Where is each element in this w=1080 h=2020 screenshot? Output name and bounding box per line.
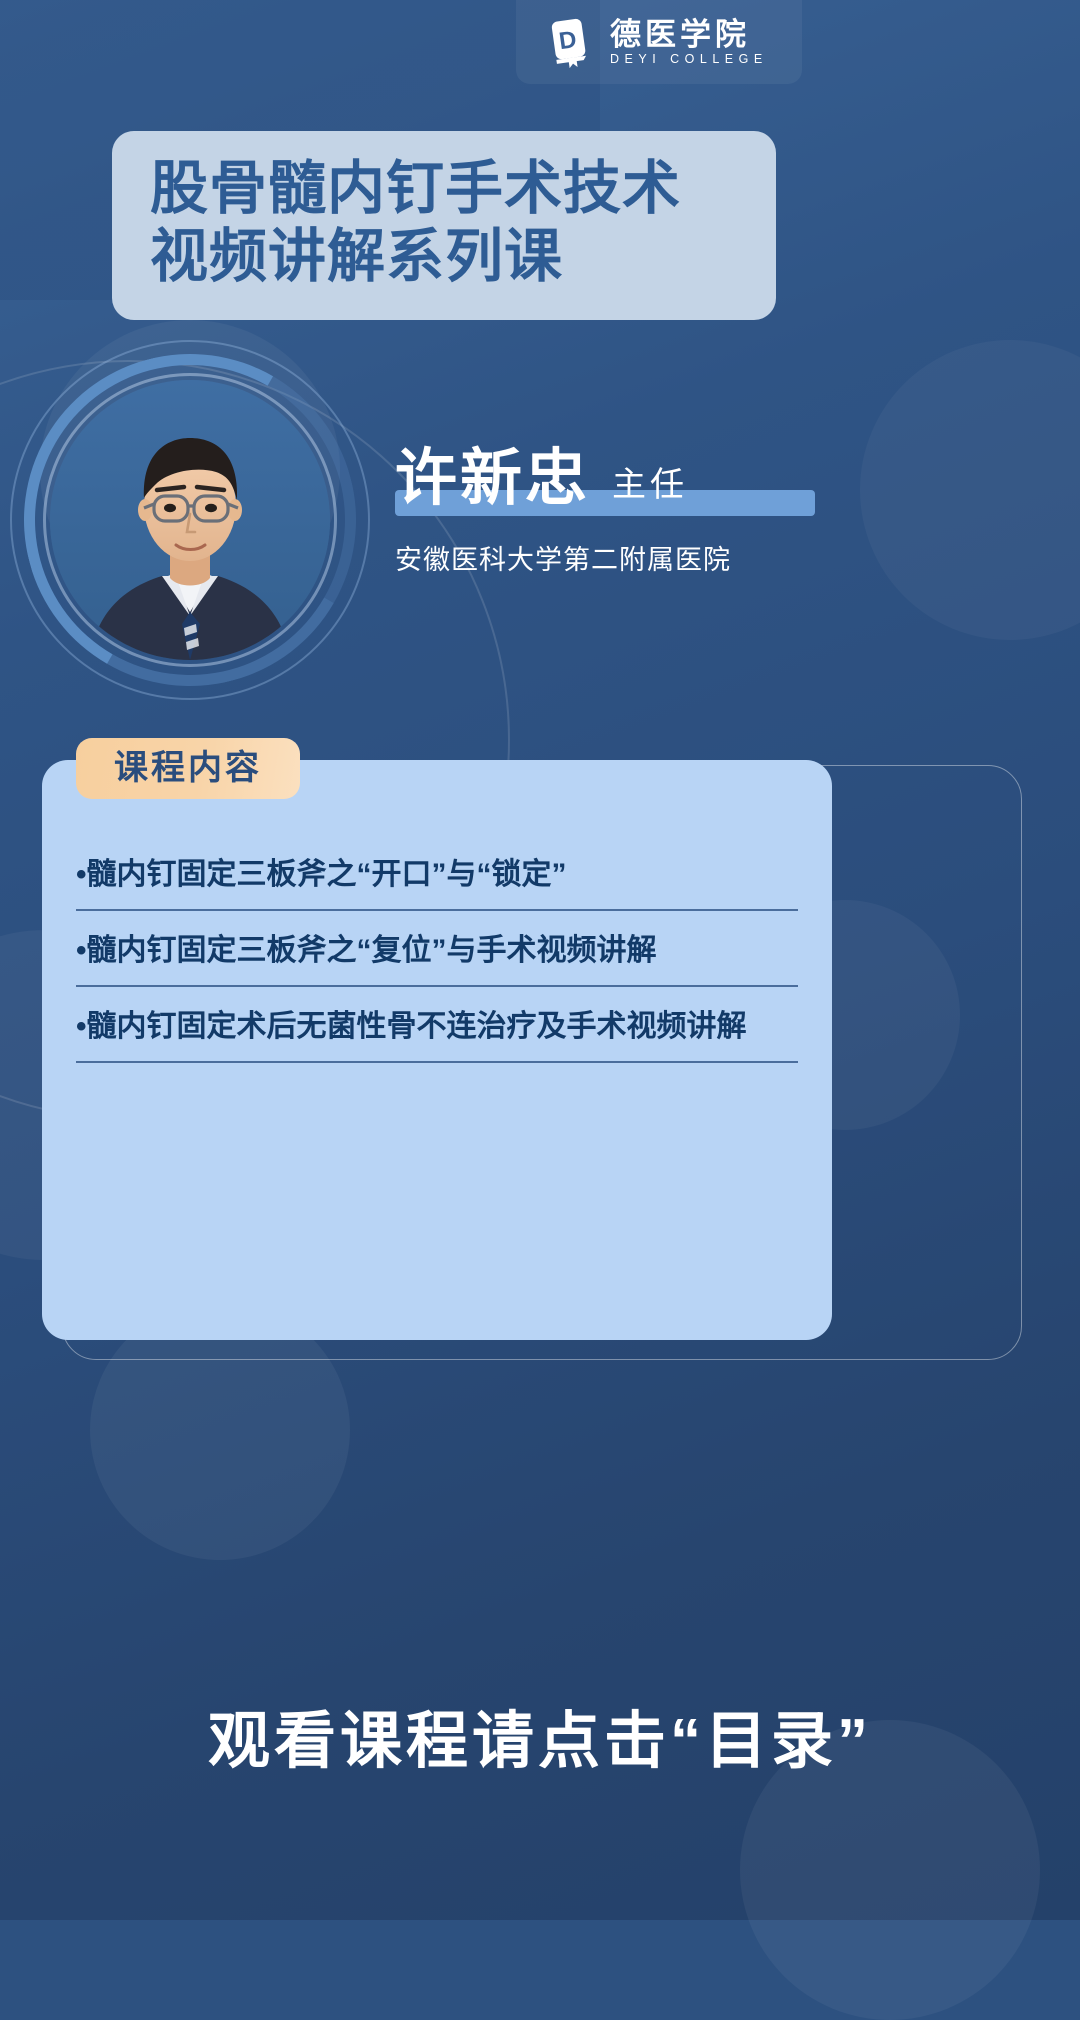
speaker-info: 许新忠 主任 安徽医科大学第二附属医院	[395, 448, 865, 577]
course-title-line-1: 股骨髓内钉手术技术	[150, 155, 746, 223]
course-content-list: •髓内钉固定三板斧之“开口”与“锁定” •髓内钉固定三板斧之“复位”与手术视频讲…	[76, 835, 798, 1063]
speaker-name: 许新忠	[395, 448, 590, 510]
list-item[interactable]: •髓内钉固定三板斧之“开口”与“锁定”	[76, 835, 798, 911]
course-title-card: 股骨髓内钉手术技术 视频讲解系列课	[112, 131, 776, 320]
brand-name-en: DEYI COLLEGE	[610, 53, 768, 66]
brand-logo[interactable]: D 德医学院 DEYI COLLEGE	[516, 0, 802, 84]
speaker-organization: 安徽医科大学第二附属医院	[395, 538, 865, 577]
speaker-portrait	[50, 380, 330, 660]
list-item[interactable]: •髓内钉固定术后无菌性骨不连治疗及手术视频讲解	[76, 987, 798, 1063]
speaker-avatar	[10, 340, 370, 700]
course-title-line-2: 视频讲解系列课	[150, 223, 746, 291]
speaker-name-row: 许新忠 主任	[395, 448, 865, 516]
book-logo-icon: D	[542, 15, 596, 69]
list-item[interactable]: •髓内钉固定三板斧之“复位”与手术视频讲解	[76, 911, 798, 987]
speaker-role: 主任	[612, 467, 688, 510]
cta-text: 观看课程请点击“目录”	[0, 1690, 1080, 1780]
content-badge: 课程内容	[76, 738, 300, 799]
brand-name-cn: 德医学院	[610, 19, 768, 50]
content-badge-label: 课程内容	[114, 749, 262, 787]
